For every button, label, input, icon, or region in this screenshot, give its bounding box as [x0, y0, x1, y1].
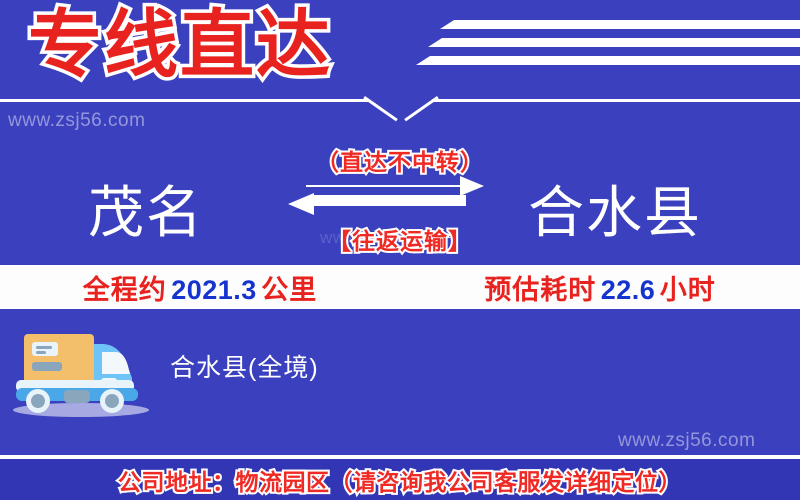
delivery-truck-icon: [6, 322, 156, 418]
speed-stripe-1: [440, 20, 800, 29]
distance-label: 全程约: [83, 275, 167, 305]
watermark-top: www.zsj56.com: [8, 110, 145, 132]
header-rule-right: [432, 99, 800, 102]
duration-label: 预估耗时: [484, 275, 596, 305]
duration-cell: 预估耗时 22.6 小时: [400, 268, 800, 307]
footer-bar: 公司地址：物流园区（请咨询我公司客服发详细定位）: [0, 459, 800, 500]
duration-unit: 小时: [660, 275, 716, 305]
coverage-area-label: 合水县(全境): [170, 348, 319, 384]
round-trip-tag: 【往返运输】: [0, 222, 800, 256]
page-title: 专线直达: [28, 2, 332, 87]
chevron-down-icon: [366, 96, 436, 130]
route-arrows: [288, 176, 484, 216]
watermark-bottom: www.zsj56.com: [618, 430, 755, 452]
speed-stripe-3: [416, 56, 800, 65]
route-info-bar: 全程约 2021.3 公里 预估耗时 22.6 小时: [0, 265, 800, 309]
arrow-right-icon: [306, 176, 484, 196]
speed-stripe-2: [428, 38, 800, 47]
distance-unit: 公里: [261, 275, 317, 305]
duration-value: 22.6: [601, 275, 656, 305]
arrow-left-icon: [288, 193, 466, 215]
company-address: 公司地址：物流园区（请咨询我公司客服发详细定位）: [118, 463, 682, 497]
header-rule-left: [0, 99, 368, 102]
distance-value: 2021.3: [171, 275, 257, 305]
logistics-route-banner: 专线直达 www.zsj56.com www.zsj56.com www.zsj…: [0, 0, 800, 500]
distance-cell: 全程约 2021.3 公里: [0, 268, 400, 307]
direct-service-tag: （直达不中转）: [0, 143, 800, 177]
